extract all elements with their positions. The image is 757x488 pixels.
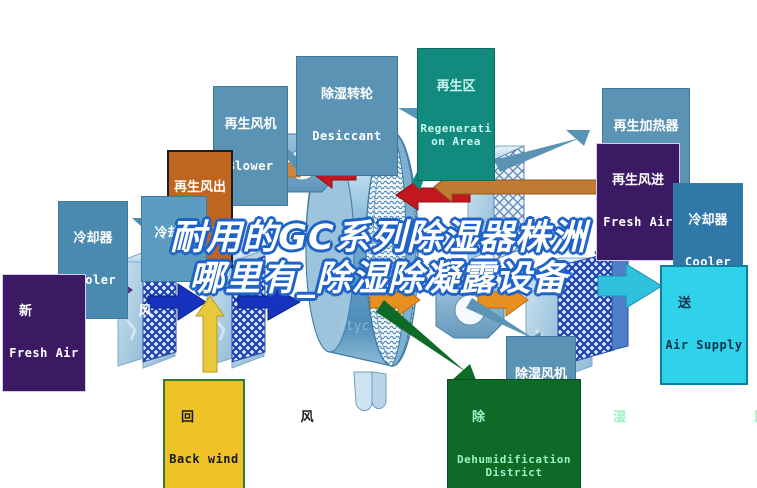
label-fresh-air-inlet-en: Fresh Air xyxy=(5,347,83,360)
label-air-supply-en: Air Supply xyxy=(664,339,744,352)
drain-pan xyxy=(354,372,386,411)
label-cooler-right-cn: 冷却器 xyxy=(676,214,740,228)
label-dehum-district-cn: 除 湿 区 xyxy=(472,411,578,425)
label-cooler-left-b-cn: 冷却器 xyxy=(144,227,204,241)
label-air-supply: 送 风 Air Supply xyxy=(660,265,748,385)
label-regen-heater-cn: 再生加热器 xyxy=(605,120,687,134)
dehumidifier-process-diagram: xtyc XT 除湿转轮 Desiccant 再生风机 Blower 再生区 R… xyxy=(0,0,757,488)
label-desiccant-rotor: 除湿转轮 Desiccant xyxy=(296,56,398,176)
label-fresh-air-inlet-cn: 新 风 xyxy=(19,305,83,319)
label-regen-area: 再生区 Regenerati on Area xyxy=(417,48,495,181)
faint-watermark-text: xtyc xyxy=(338,319,369,334)
label-dehum-district-en: Dehumidification District xyxy=(450,453,578,479)
label-back-wind: 回 风 Back wind xyxy=(163,379,245,488)
label-desiccant-rotor-cn: 除湿转轮 xyxy=(299,88,395,102)
faint-watermark-text-2: XT xyxy=(452,285,466,299)
label-cooler-left-a-cn: 冷却器 xyxy=(61,232,125,246)
label-regen-area-en: Regenerati on Area xyxy=(420,122,492,148)
label-exhaust-cn: 再生风出 xyxy=(171,181,229,195)
label-cooler-left-b: 冷却器 xyxy=(141,196,207,282)
label-air-supply-cn: 送 风 xyxy=(678,297,744,311)
label-regen-area-cn: 再生区 xyxy=(420,80,492,94)
label-regen-fresh-air-cn: 再生风进 xyxy=(599,174,677,188)
label-back-wind-cn: 回 风 xyxy=(181,411,241,425)
label-regen-blower-cn: 再生风机 xyxy=(216,118,285,132)
label-back-wind-en: Back wind xyxy=(167,453,241,466)
label-dehum-district: 除 湿 区 Dehumidification District xyxy=(447,379,581,488)
label-fresh-air-inlet: 新 风 Fresh Air xyxy=(2,274,86,392)
label-regen-fresh-air: 再生风进 Fresh Air xyxy=(596,143,680,261)
label-desiccant-rotor-en: Desiccant xyxy=(299,130,395,143)
label-regen-fresh-air-en: Fresh Air xyxy=(599,216,677,229)
